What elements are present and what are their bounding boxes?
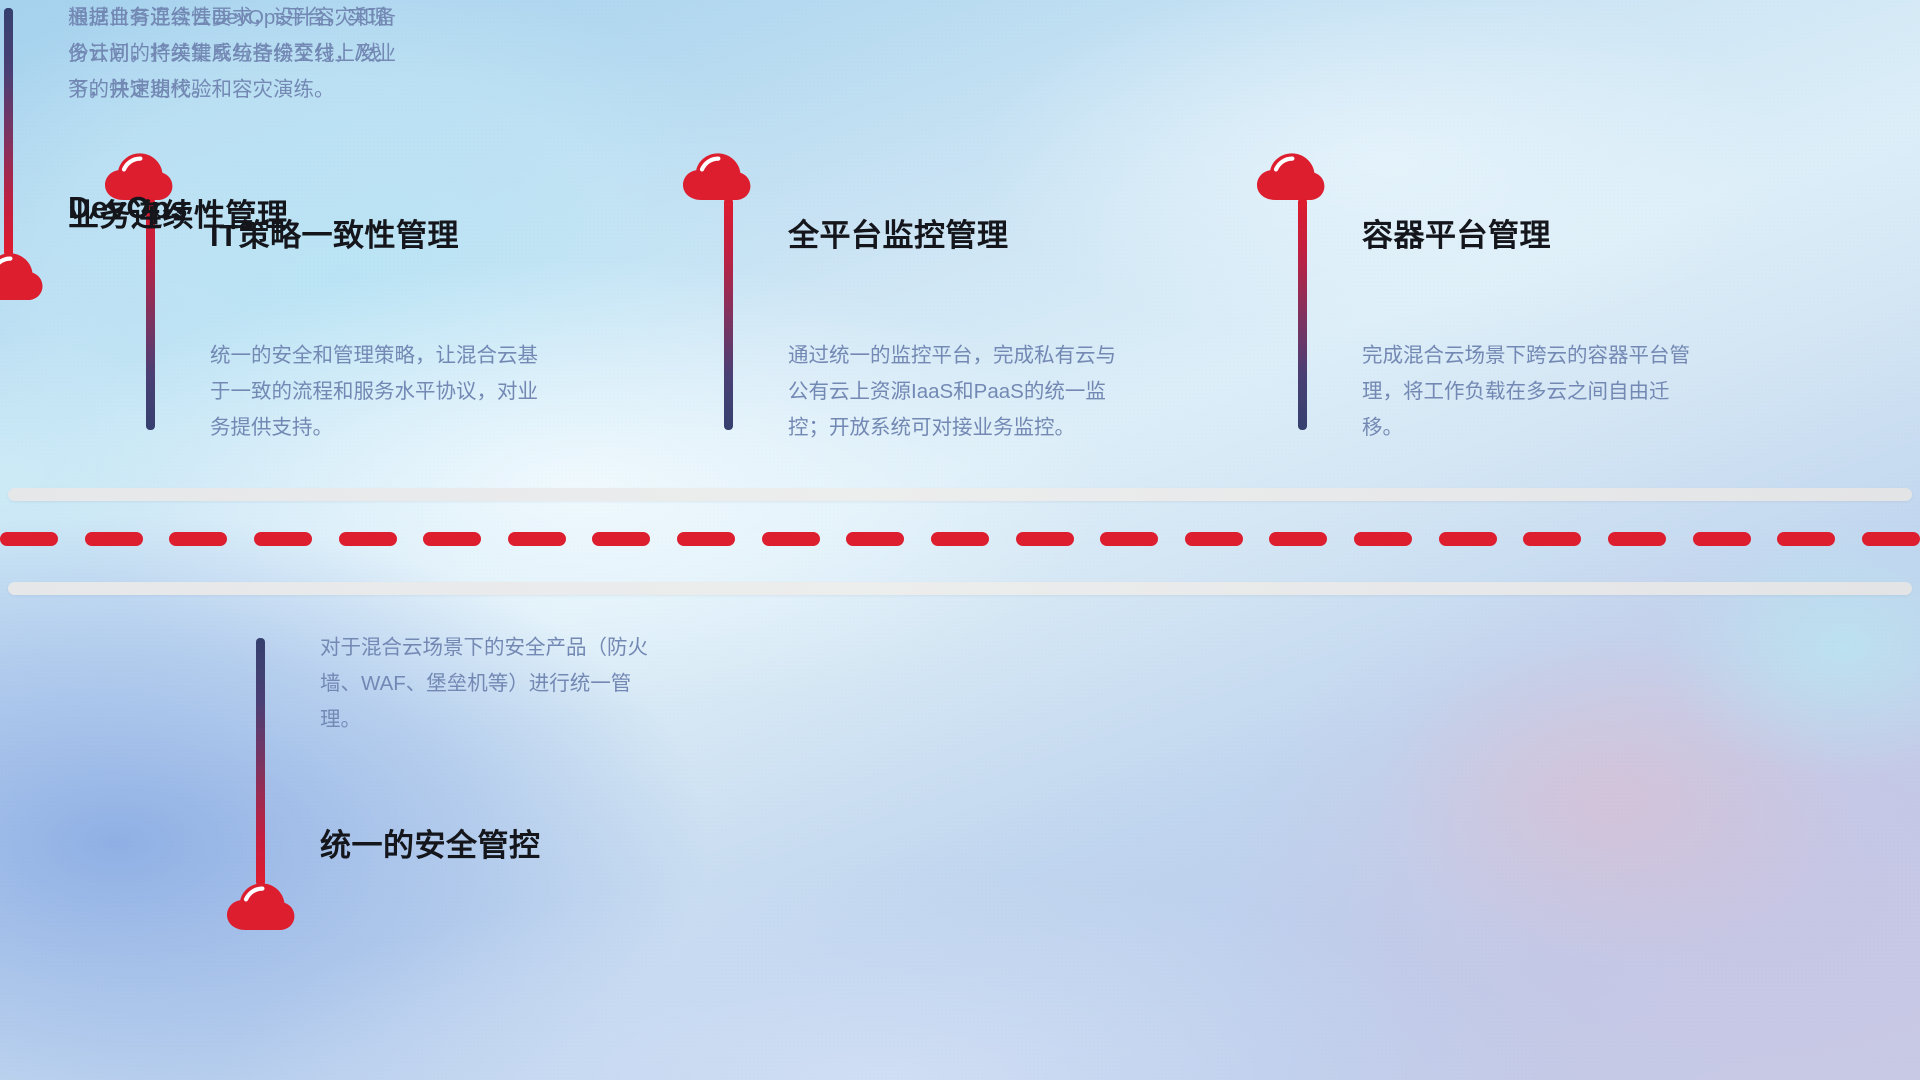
road-dash	[1608, 532, 1666, 546]
road-dash	[592, 532, 650, 546]
feature-description: 完成混合云场景下跨云的容器平台管理，将工作负载在多云之间自由迁移。	[1362, 338, 1692, 446]
road-dash	[1862, 532, 1920, 546]
feature-description: 通过统一的监控平台，完成私有云与公有云上资源IaaS和PaaS的统一监控；开放系…	[788, 338, 1118, 446]
road-dash	[85, 532, 143, 546]
road-dash	[762, 532, 820, 546]
road-dash	[1100, 532, 1158, 546]
road-dash	[1185, 532, 1243, 546]
feature-title: 容器平台管理	[1362, 210, 1551, 255]
feature-description: 通过自有混合云DevOps平台，实现多云间的持续集成与持续交付，及业务的快速迭代…	[68, 0, 398, 108]
road-dash	[846, 532, 904, 546]
road-dash	[508, 532, 566, 546]
cloud-icon	[1254, 150, 1326, 202]
road-dash	[339, 532, 397, 546]
road-dash	[1523, 532, 1581, 546]
road-dash	[1693, 532, 1751, 546]
infographic-canvas: IT策略一致性管理 统一的安全和管理策略，让混合云基于一致的流程和服务水平协议，…	[0, 0, 1920, 1080]
road-dash	[1269, 532, 1327, 546]
road-dash	[1354, 532, 1412, 546]
road-dash	[254, 532, 312, 546]
road-dash	[1016, 532, 1074, 546]
connector-stem	[256, 638, 265, 886]
road-dash	[1777, 532, 1835, 546]
dashed-road	[0, 528, 1920, 550]
connector-stem	[1298, 198, 1307, 430]
road-dash	[677, 532, 735, 546]
road-dash	[0, 532, 58, 546]
divider-band	[0, 482, 1920, 602]
road-dash	[931, 532, 989, 546]
feature-title: DevOps	[68, 190, 188, 226]
cloud-icon	[0, 250, 44, 302]
connector-stem	[724, 198, 733, 430]
upper-rail	[8, 488, 1912, 501]
road-dash	[423, 532, 481, 546]
lower-rail	[8, 582, 1912, 595]
feature-description: 统一的安全和管理策略，让混合云基于一致的流程和服务水平协议，对业务提供支持。	[210, 338, 540, 446]
feature-title: 统一的安全管控	[320, 820, 541, 865]
feature-title: 全平台监控管理	[788, 210, 1009, 255]
cloud-icon	[224, 880, 296, 932]
road-dash	[169, 532, 227, 546]
feature-description: 对于混合云场景下的安全产品（防火墙、WAF、堡垒机等）进行统一管理。	[320, 630, 650, 738]
road-dash	[1439, 532, 1497, 546]
cloud-icon	[680, 150, 752, 202]
connector-stem	[4, 8, 13, 256]
